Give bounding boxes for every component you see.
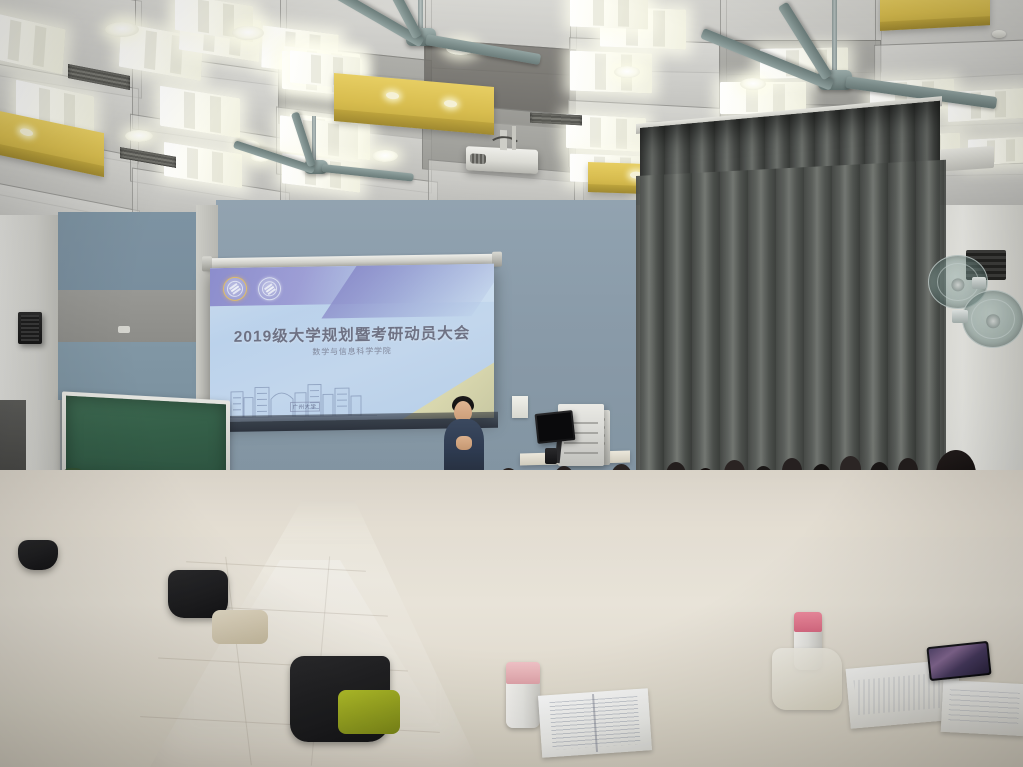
plastic-bag	[772, 648, 842, 710]
ceiling-fan	[212, 118, 412, 198]
slide-title: 2019级大学规划暨考研动员大会	[210, 321, 494, 347]
tote-bag	[212, 610, 268, 644]
stacked-papers	[941, 680, 1023, 736]
smartphone	[926, 641, 991, 681]
slide-footer-label: 广州大学	[290, 402, 320, 412]
downlight	[614, 66, 640, 78]
wall-fixture	[118, 326, 130, 333]
wall-fan	[962, 290, 1023, 352]
presenter-hands	[456, 436, 472, 450]
wall-panel-gray-band	[58, 290, 200, 344]
wall-panel-blue-lower	[58, 342, 200, 400]
projector	[466, 146, 538, 174]
ceiling-fan	[330, 0, 590, 90]
open-notebook	[538, 688, 652, 758]
downlight	[105, 22, 139, 37]
desk-monitor	[535, 410, 576, 444]
backpack-accent	[338, 690, 400, 734]
smoke-detector-icon	[992, 30, 1006, 38]
lecture-hall-photo: 2019级大学规划暨考研动员大会 数学与信息科学学院 广州大学	[0, 0, 1023, 767]
water-bottle-pink-cap	[506, 662, 540, 728]
projector-drop-rod	[512, 126, 516, 150]
wall-poster	[512, 396, 528, 418]
downlight	[125, 130, 153, 142]
downlight	[232, 26, 264, 40]
wall-panel-blue-upper	[58, 212, 198, 297]
wall-speaker	[18, 312, 42, 344]
backpack	[18, 540, 58, 570]
